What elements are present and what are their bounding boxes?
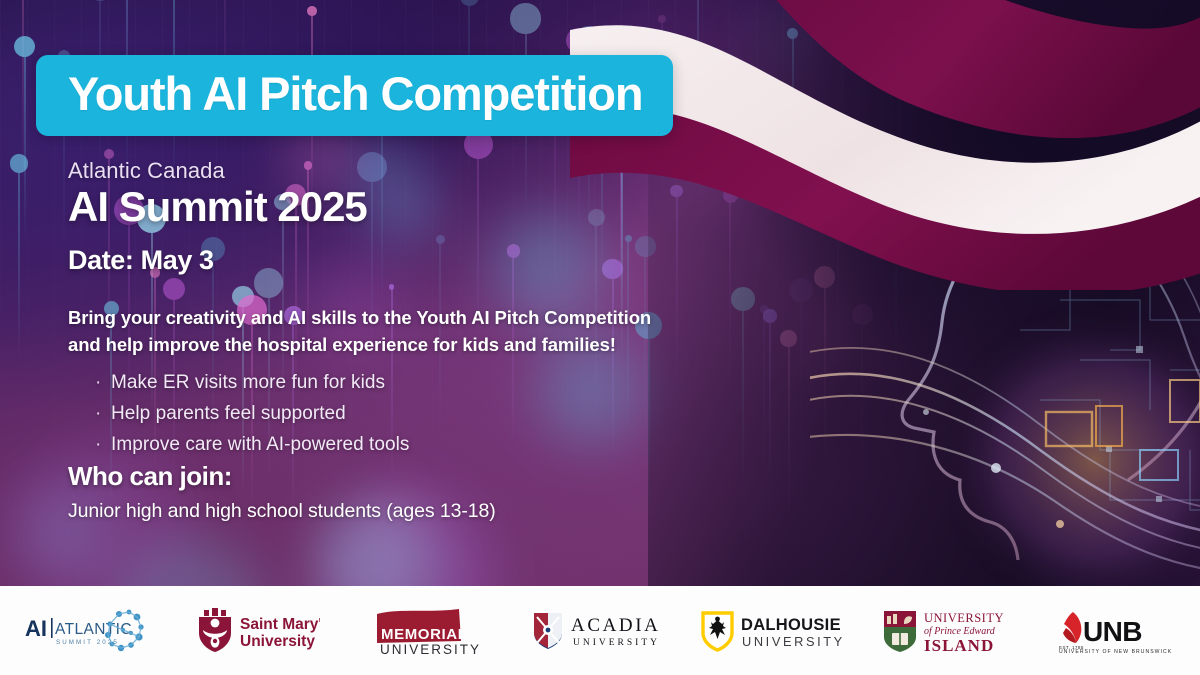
svg-text:MEMORIAL: MEMORIAL [381, 626, 467, 643]
list-item: ·Help parents feel supported [95, 399, 409, 430]
sponsor-logo-bar: AI ATLANTIC SUMMIT 2025 [0, 586, 1200, 675]
logo-dalhousie-university: DALHOUSIE UNIVERSITY [686, 586, 857, 675]
svg-text:UNIVERSITY: UNIVERSITY [924, 611, 1004, 625]
bullet-dot-icon: · [95, 430, 111, 461]
logo-ai-atlantic-summit: AI ATLANTIC SUMMIT 2025 [0, 586, 171, 675]
svg-text:UNB: UNB [1083, 616, 1142, 647]
eligibility-body: Junior high and high school students (ag… [68, 500, 496, 523]
svg-text:AI: AI [25, 616, 47, 641]
svg-text:UNIVERSITY OF NEW BRUNSWICK: UNIVERSITY OF NEW BRUNSWICK [1059, 649, 1172, 654]
logo-memorial-university: MEMORIAL UNIVERSITY [343, 586, 514, 675]
svg-text:ISLAND: ISLAND [924, 636, 994, 655]
event-name: AI Summit 2025 [68, 185, 367, 229]
title-banner: Youth AI Pitch Competition [36, 55, 673, 136]
dalhousie-university-logo-icon: DALHOUSIE UNIVERSITY [698, 609, 844, 653]
bullet-dot-icon: · [95, 368, 111, 399]
memorial-university-logo-icon: MEMORIAL UNIVERSITY [373, 605, 485, 657]
svg-text:DALHOUSIE: DALHOUSIE [741, 616, 841, 634]
svg-text:UNIVERSITY: UNIVERSITY [380, 642, 481, 657]
ai-head-artwork [810, 150, 1200, 620]
logo-university-of-prince-edward-island: UNIVERSITY of Prince Edward ISLAND [857, 586, 1028, 675]
lede-line-2: and help improve the hospital experience… [68, 332, 768, 359]
poster-canvas: Youth AI Pitch Competition Atlantic Cana… [0, 0, 1200, 675]
svg-text:SUMMIT 2025: SUMMIT 2025 [56, 639, 119, 646]
kicker-text: Atlantic Canada [68, 158, 225, 184]
svg-text:University: University [240, 633, 315, 650]
logo-university-of-new-brunswick: EST. 1785 UNB UNIVERSITY OF NEW BRUNSWIC… [1029, 586, 1200, 675]
svg-text:Saint Mary's: Saint Mary's [240, 616, 320, 633]
logo-acadia-university: ACADIA UNIVERSITY [514, 586, 685, 675]
svg-text:UNIVERSITY: UNIVERSITY [573, 638, 660, 648]
lede-line-1: Bring your creativity and AI skills to t… [68, 305, 768, 332]
bullet-dot-icon: · [95, 399, 111, 430]
saint-marys-university-logo-icon: Saint Mary's University [194, 607, 320, 655]
list-item: ·Improve care with AI-powered tools [95, 430, 409, 461]
lede-paragraph: Bring your creativity and AI skills to t… [68, 305, 768, 359]
list-item-label: Help parents feel supported [111, 403, 346, 424]
benefits-list: ·Make ER visits more fun for kids ·Help … [95, 368, 409, 460]
event-date: Date: May 3 [68, 245, 214, 276]
list-item-label: Improve care with AI-powered tools [111, 434, 409, 455]
svg-text:ACADIA: ACADIA [571, 615, 661, 636]
unb-logo-icon: EST. 1785 UNB UNIVERSITY OF NEW BRUNSWIC… [1053, 608, 1175, 654]
list-item: ·Make ER visits more fun for kids [95, 368, 409, 399]
ai-atlantic-summit-logo-icon: AI ATLANTIC SUMMIT 2025 [23, 606, 149, 656]
acadia-university-logo-icon: ACADIA UNIVERSITY [529, 609, 671, 653]
svg-text:UNIVERSITY: UNIVERSITY [742, 634, 844, 649]
upei-logo-icon: UNIVERSITY of Prince Edward ISLAND [879, 607, 1007, 655]
page-title: Youth AI Pitch Competition [68, 70, 643, 117]
logo-saint-marys-university: Saint Mary's University [171, 586, 342, 675]
eligibility-heading: Who can join: [68, 461, 232, 492]
list-item-label: Make ER visits more fun for kids [111, 372, 385, 393]
